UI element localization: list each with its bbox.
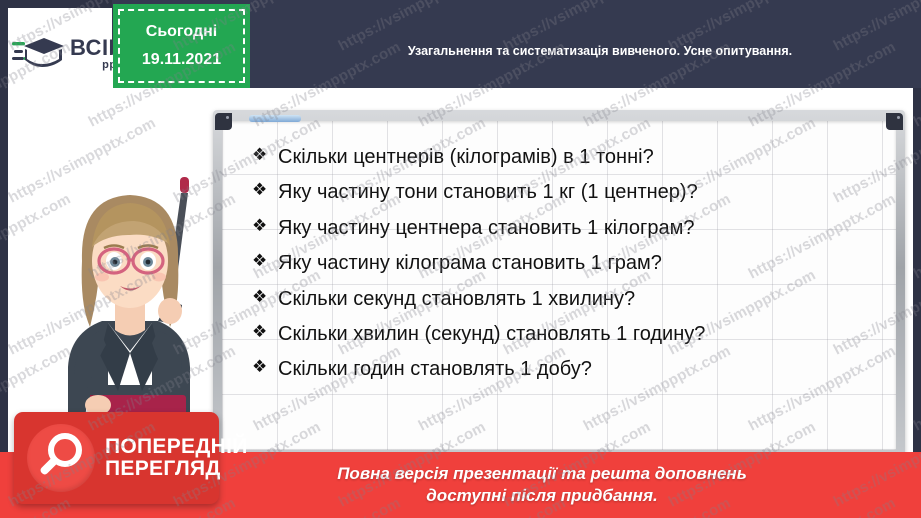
purchase-banner-text: Повна версія презентації та решта доповн… [232, 452, 852, 518]
whiteboard-corner-top-right [886, 113, 903, 130]
slide: ❖ Скільки центнерів (кілограмів) в 1 тон… [0, 0, 921, 518]
list-item: ❖ Скільки центнерів (кілограмів) в 1 тон… [252, 142, 882, 172]
list-item-label: Скільки хвилин (секунд) становлять 1 год… [278, 319, 705, 349]
list-item-label: Скільки центнерів (кілограмів) в 1 тонні… [278, 142, 654, 172]
preview-badge[interactable]: ПОПЕРЕДНІЙ ПЕРЕГЛЯД [14, 412, 219, 504]
diamond-bullet-icon: ❖ [252, 284, 278, 310]
list-item-label: Скільки годин становлять 1 добу? [278, 354, 592, 384]
list-item-label: Яку частину тони становить 1 кг (1 центн… [278, 177, 698, 207]
corner-screw-icon [897, 116, 900, 119]
diamond-bullet-icon: ❖ [252, 177, 278, 203]
graduation-cap-icon [12, 33, 68, 75]
list-item: ❖ Яку частину кілограма становить 1 грам… [252, 248, 882, 278]
question-list: ❖ Скільки центнерів (кілограмів) в 1 тон… [252, 142, 882, 390]
list-item: ❖ Скільки хвилин (секунд) становлять 1 г… [252, 319, 882, 349]
preview-badge-line2: ПЕРЕГЛЯД [105, 458, 248, 480]
whiteboard-corner-top-left [215, 113, 232, 130]
preview-badge-labels: ПОПЕРЕДНІЙ ПЕРЕГЛЯД [105, 436, 248, 481]
diamond-bullet-icon: ❖ [252, 248, 278, 274]
diamond-bullet-icon: ❖ [252, 142, 278, 168]
purchase-banner-line2: доступні після придбання. [426, 485, 657, 507]
list-item-label: Яку частину центнера становить 1 кілогра… [278, 213, 694, 243]
list-item: ❖ Скільки секунд становлять 1 хвилину? [252, 284, 882, 314]
preview-badge-line1: ПОПЕРЕДНІЙ [105, 436, 248, 458]
list-item-label: Скільки секунд становлять 1 хвилину? [278, 284, 635, 314]
diamond-bullet-icon: ❖ [252, 319, 278, 345]
whiteboard-marker-icon [249, 115, 301, 122]
today-date-value: 19.11.2021 [142, 51, 221, 69]
purchase-banner-line1: Повна версія презентації та решта доповн… [337, 463, 747, 485]
list-item: ❖ Скільки годин становлять 1 добу? [252, 354, 882, 384]
today-date-badge: Сьогодні 19.11.2021 [113, 4, 250, 88]
today-label: Сьогодні [146, 23, 217, 41]
teacher-illustration [30, 155, 230, 455]
list-item-label: Яку частину кілограма становить 1 грам? [278, 248, 662, 278]
list-item: ❖ Яку частину центнера становить 1 кілог… [252, 213, 882, 243]
diamond-bullet-icon: ❖ [252, 354, 278, 380]
diamond-bullet-icon: ❖ [252, 213, 278, 239]
corner-screw-icon [226, 116, 229, 119]
page-title: Узагальнення та систематизація вивченого… [300, 0, 900, 88]
list-item: ❖ Яку частину тони становить 1 кг (1 цен… [252, 177, 882, 207]
magnifier-icon [27, 424, 95, 492]
